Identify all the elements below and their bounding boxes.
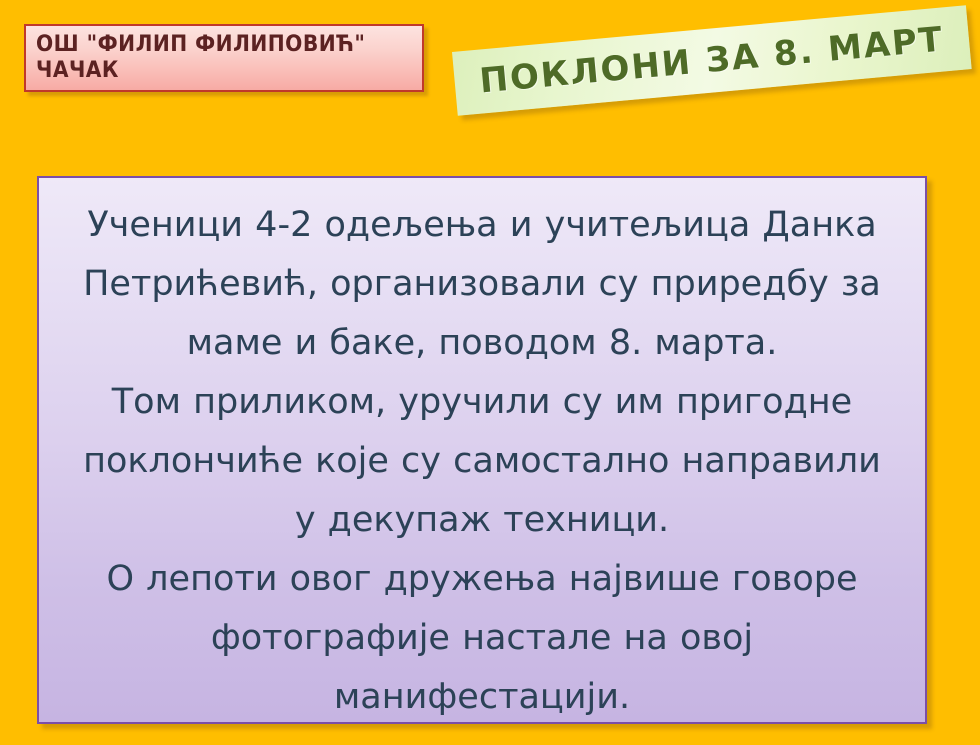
content-box: Ученици 4-2 одељења и учитељица Данка Пе…: [37, 176, 927, 724]
school-name-line-2: ЧАЧАК: [36, 58, 384, 84]
content-line: маме и баке, поводом 8. марта.: [53, 314, 911, 373]
content-line: манифестацији.: [53, 668, 911, 724]
content-line: поклончиће које су самостално направили: [53, 432, 911, 491]
title-banner-container: ПОКЛОНИ ЗА 8. МАРТ: [452, 5, 972, 116]
content-line: О лепоти овог дружења највише говоре: [53, 550, 911, 609]
slide-canvas: ОШ "ФИЛИП ФИЛИПОВИЋ" ЧАЧАК ПОКЛОНИ ЗА 8.…: [0, 0, 980, 745]
school-name-plaque: ОШ "ФИЛИП ФИЛИПОВИЋ" ЧАЧАК: [24, 24, 424, 92]
title-banner-text: ПОКЛОНИ ЗА 8. МАРТ: [478, 19, 946, 101]
title-banner: ПОКЛОНИ ЗА 8. МАРТ: [452, 5, 972, 116]
content-line: у декупаж техници.: [53, 491, 911, 550]
school-name-line-1: ОШ "ФИЛИП ФИЛИПОВИЋ": [36, 32, 384, 58]
content-line: Том приликом, уручили су им пригодне: [53, 373, 911, 432]
content-line: фотографије настале на овој: [53, 609, 911, 668]
content-paragraph: Ученици 4-2 одељења и учитељица Данка Пе…: [53, 196, 911, 724]
content-line: Петрићевић, организовали су приредбу за: [53, 255, 911, 314]
content-line: Ученици 4-2 одељења и учитељица Данка: [53, 196, 911, 255]
